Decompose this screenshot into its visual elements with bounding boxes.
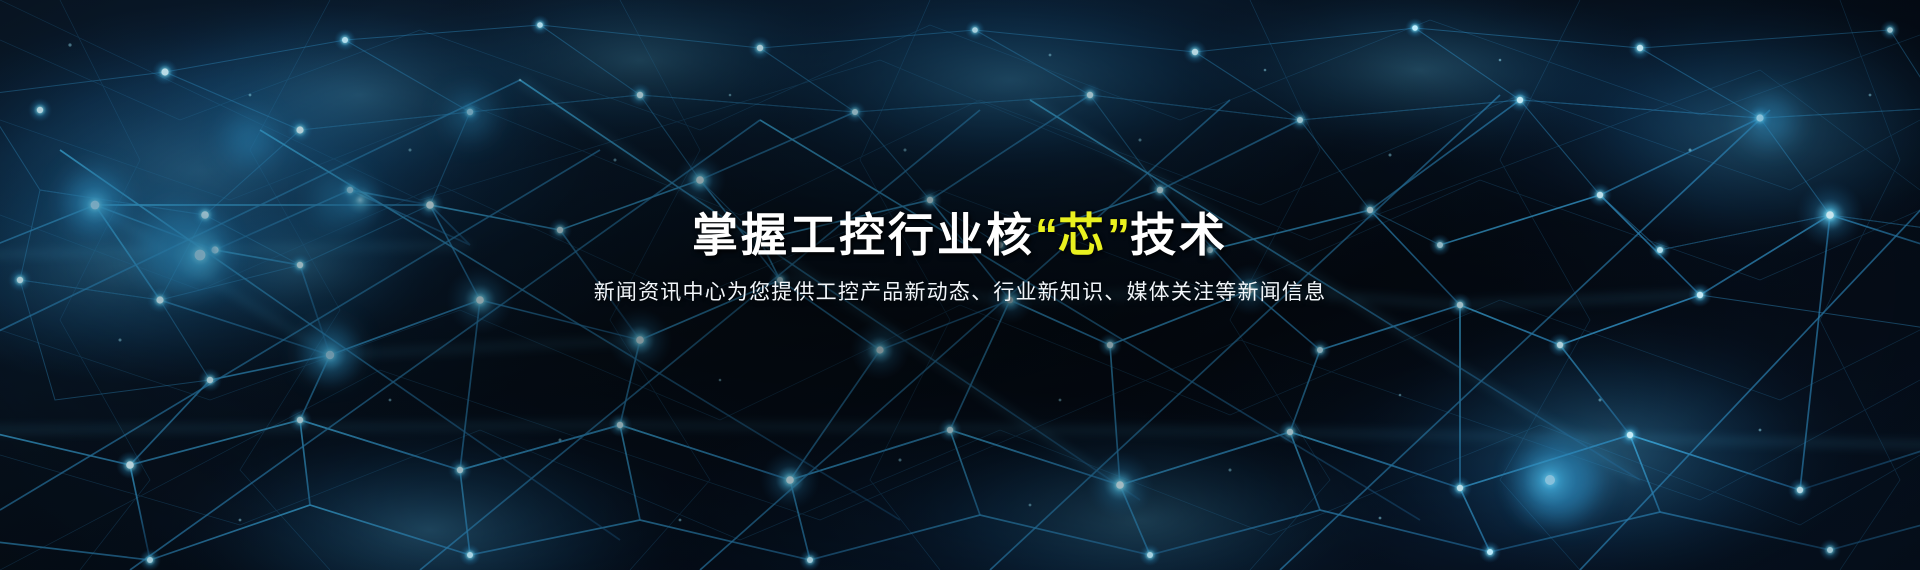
title-highlight-char: 芯 <box>1058 209 1107 261</box>
news-hero-banner: 掌握工控行业核“芯”技术 新闻资讯中心为您提供工控产品新动态、行业新知识、媒体关… <box>0 0 1920 570</box>
page-subtitle: 新闻资讯中心为您提供工控产品新动态、行业新知识、媒体关注等新闻信息 <box>0 278 1920 308</box>
title-segment-plain-1: 掌握工控行业核 <box>692 209 1035 261</box>
title-open-quote: “ <box>1035 209 1058 261</box>
page-title: 掌握工控行业核“芯”技术 <box>0 208 1920 262</box>
hero-text-block: 掌握工控行业核“芯”技术 新闻资讯中心为您提供工控产品新动态、行业新知识、媒体关… <box>0 208 1920 308</box>
title-close-quote: ” <box>1107 209 1130 261</box>
title-segment-plain-2: 技术 <box>1130 209 1228 261</box>
